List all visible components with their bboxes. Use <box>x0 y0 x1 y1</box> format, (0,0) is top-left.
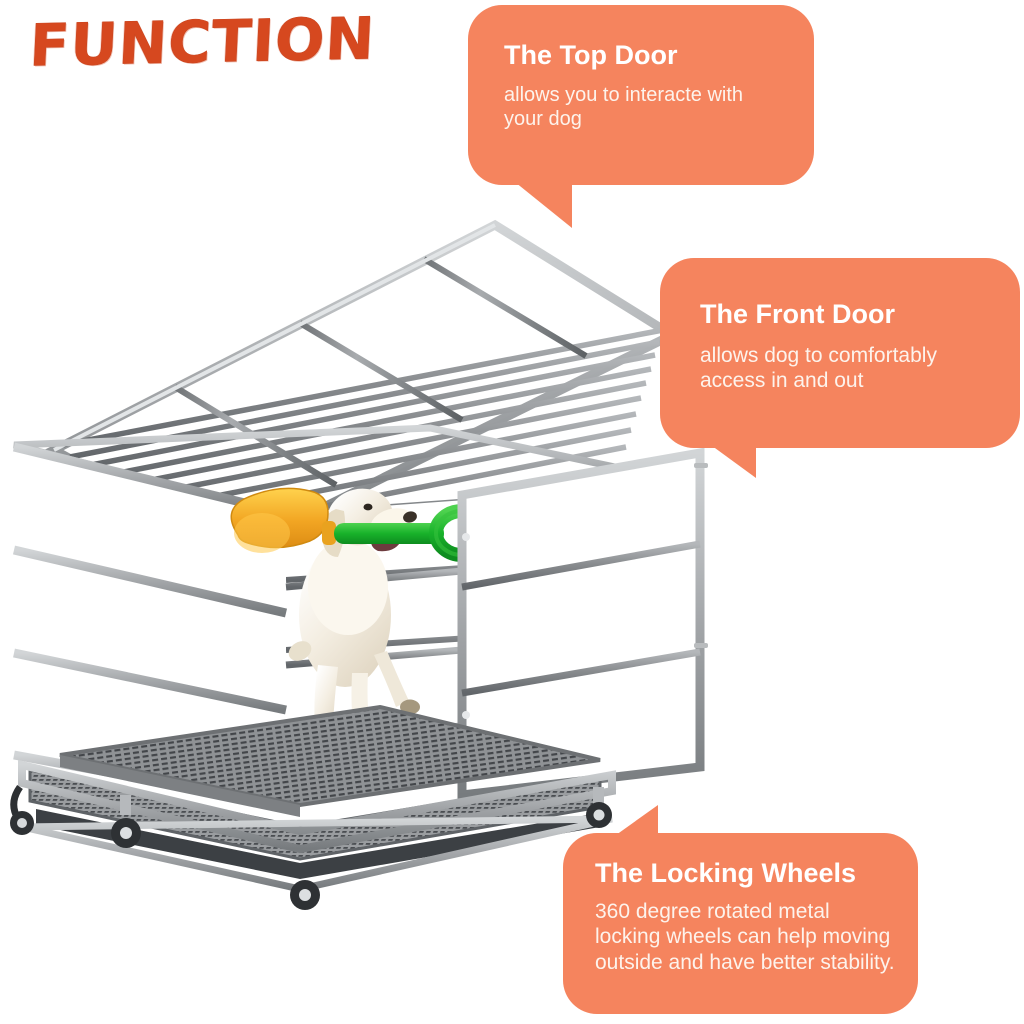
callout-top-door-body: allows you to interacte with your dog <box>504 83 786 132</box>
callout-front-door-tail <box>688 440 756 478</box>
callout-front-door-body: allows dog to comfortably access in and … <box>700 343 1000 394</box>
callout-locking-wheels-title: The Locking Wheels <box>595 859 918 889</box>
callout-locking-wheels[interactable]: The Locking Wheels 360 degree rotated me… <box>563 833 918 1014</box>
callout-locking-wheels-body: 360 degree rotated metal locking wheels … <box>595 899 895 976</box>
infographic-canvas: FUNCTION <box>0 0 1024 1024</box>
callout-front-door[interactable]: The Front Door allows dog to comfortably… <box>660 258 1020 448</box>
callout-front-door-title: The Front Door <box>700 300 1020 330</box>
callout-top-door-tail <box>492 178 572 228</box>
page-title: FUNCTION <box>28 4 377 79</box>
callout-locking-wheels-tail <box>592 805 658 845</box>
callout-top-door[interactable]: The Top Door allows you to interacte wit… <box>468 5 814 185</box>
callout-top-door-title: The Top Door <box>504 41 814 71</box>
caster-wheel-back-right[interactable] <box>290 880 320 910</box>
